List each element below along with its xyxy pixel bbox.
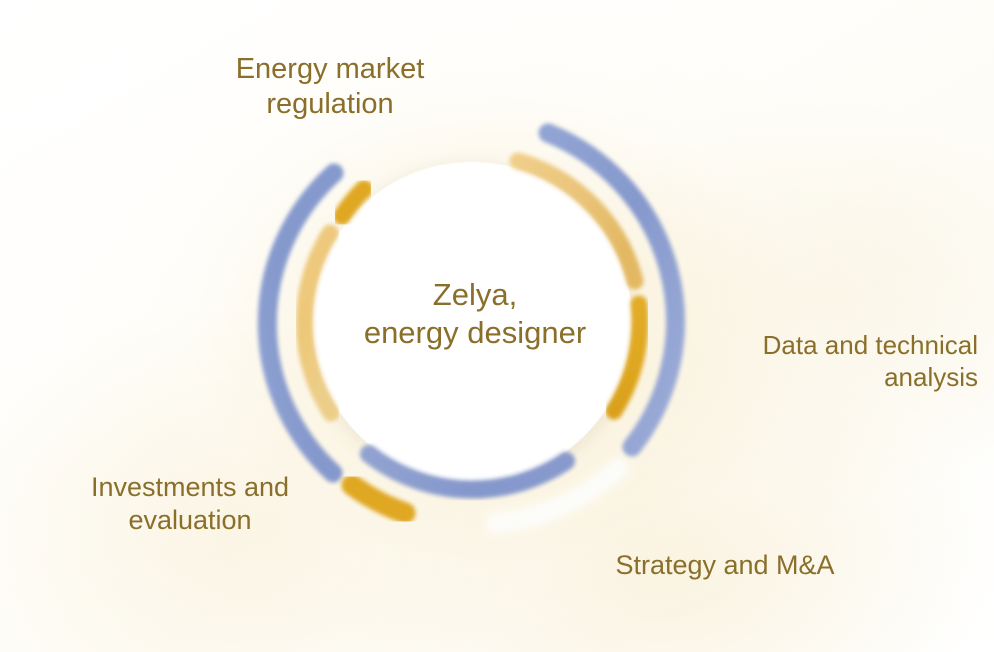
label-investments-and-evaluation: Investments and evaluation [40, 471, 340, 537]
label-energy-market-regulation: Energy market regulation [150, 52, 510, 123]
diagram-canvas: Zelya, energy designer Energy market reg… [0, 0, 994, 652]
arc-outer-gold-bottom-left [352, 485, 405, 513]
label-data-and-technical-analysis: Data and technical analysis [668, 330, 978, 393]
arc-inner-gold-upper-left [342, 189, 364, 216]
label-strategy-and-ma: Strategy and M&A [560, 549, 890, 582]
arc-inner-blue-bottom [369, 454, 566, 490]
center-label: Zelya, energy designer [300, 276, 650, 352]
